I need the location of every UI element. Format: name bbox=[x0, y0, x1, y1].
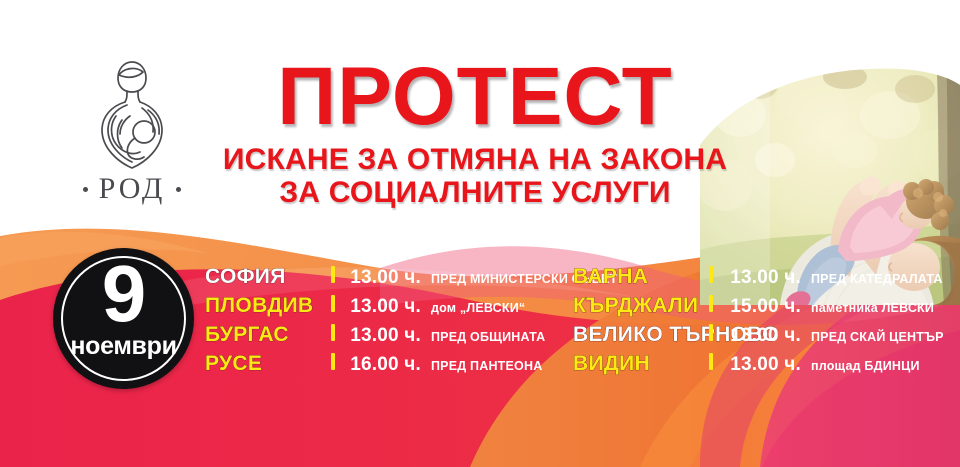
schedule-row: КЪРДЖАЛИ15.00 ч.паметника ЛЕВСКИ bbox=[573, 295, 953, 324]
schedule-row: ПЛОВДИВ13.00 ч.дом „ЛЕВСКИ“ bbox=[205, 295, 575, 324]
city-name: ВЕЛИКО ТЪРНОВО bbox=[573, 324, 703, 345]
protest-time: 13.00 ч. bbox=[335, 297, 427, 316]
city-name: БУРГАС bbox=[205, 324, 323, 345]
protest-time: 13.00 ч. bbox=[713, 326, 807, 345]
organization-logo: РОД bbox=[62, 58, 202, 218]
protest-time: 13.00 ч. bbox=[713, 355, 807, 374]
protest-poster: РОД ПРОТЕСТ ИСКАНЕ ЗА ОТМЯНА НА ЗАКОНА З… bbox=[0, 0, 960, 467]
schedule-column-right: ВАРНА13.00 ч.ПРЕД КАТЕДРАЛАТАКЪРДЖАЛИ15.… bbox=[573, 266, 953, 382]
logo-wordmark: РОД bbox=[62, 174, 202, 204]
schedule-row: ВЕЛИКО ТЪРНОВО13.00 ч.ПРЕД СКАЙ ЦЕНТЪР bbox=[573, 324, 953, 353]
protest-location: ПРЕД КАТЕДРАЛАТА bbox=[807, 273, 943, 286]
schedule-column-left: СОФИЯ13.00 ч.ПРЕД МИНИСТЕРСКИ СЪВЕТПЛОВД… bbox=[205, 266, 575, 382]
city-name: ПЛОВДИВ bbox=[205, 295, 323, 316]
logo-left-dot bbox=[83, 187, 88, 192]
poster-title: ПРОТЕСТ bbox=[215, 58, 735, 137]
schedule-row: ВИДИН13.00 ч.площад БДИНЦИ bbox=[573, 353, 953, 382]
schedule-row: ВАРНА13.00 ч.ПРЕД КАТЕДРАЛАТА bbox=[573, 266, 953, 295]
logo-name: РОД bbox=[99, 174, 166, 204]
protest-time: 16.00 ч. bbox=[335, 355, 427, 374]
protest-location: ПРЕД СКАЙ ЦЕНТЪР bbox=[807, 331, 944, 344]
schedule-row: БУРГАС13.00 ч.ПРЕД ОБЩИНАТА bbox=[205, 324, 575, 353]
city-name: ВАРНА bbox=[573, 266, 703, 287]
schedule-row: СОФИЯ13.00 ч.ПРЕД МИНИСТЕРСКИ СЪВЕТ bbox=[205, 266, 575, 295]
protest-time: 13.00 ч. bbox=[335, 268, 427, 287]
protest-location: ПРЕД ПАНТЕОНА bbox=[427, 360, 542, 373]
headline-block: ПРОТЕСТ ИСКАНЕ ЗА ОТМЯНА НА ЗАКОНА ЗА СО… bbox=[215, 58, 735, 210]
protest-time: 15.00 ч. bbox=[713, 297, 807, 316]
protest-location: паметника ЛЕВСКИ bbox=[807, 302, 934, 315]
protest-location: площад БДИНЦИ bbox=[807, 360, 920, 373]
city-name: СОФИЯ bbox=[205, 266, 323, 287]
protest-location: дом „ЛЕВСКИ“ bbox=[427, 302, 525, 315]
schedule-row: РУСЕ16.00 ч.ПРЕД ПАНТЕОНА bbox=[205, 353, 575, 382]
city-name: ВИДИН bbox=[573, 353, 703, 374]
protest-time: 13.00 ч. bbox=[713, 268, 807, 287]
city-name: РУСЕ bbox=[205, 353, 323, 374]
protest-schedule: СОФИЯ13.00 ч.ПРЕД МИНИСТЕРСКИ СЪВЕТПЛОВД… bbox=[0, 266, 960, 396]
mother-and-child-line-art-icon bbox=[86, 58, 178, 170]
city-name: КЪРДЖАЛИ bbox=[573, 295, 703, 316]
protest-location: ПРЕД ОБЩИНАТА bbox=[427, 331, 545, 344]
poster-subtitle: ИСКАНЕ ЗА ОТМЯНА НА ЗАКОНА ЗА СОЦИАЛНИТЕ… bbox=[215, 143, 735, 210]
logo-right-dot bbox=[176, 187, 181, 192]
protest-time: 13.00 ч. bbox=[335, 326, 427, 345]
